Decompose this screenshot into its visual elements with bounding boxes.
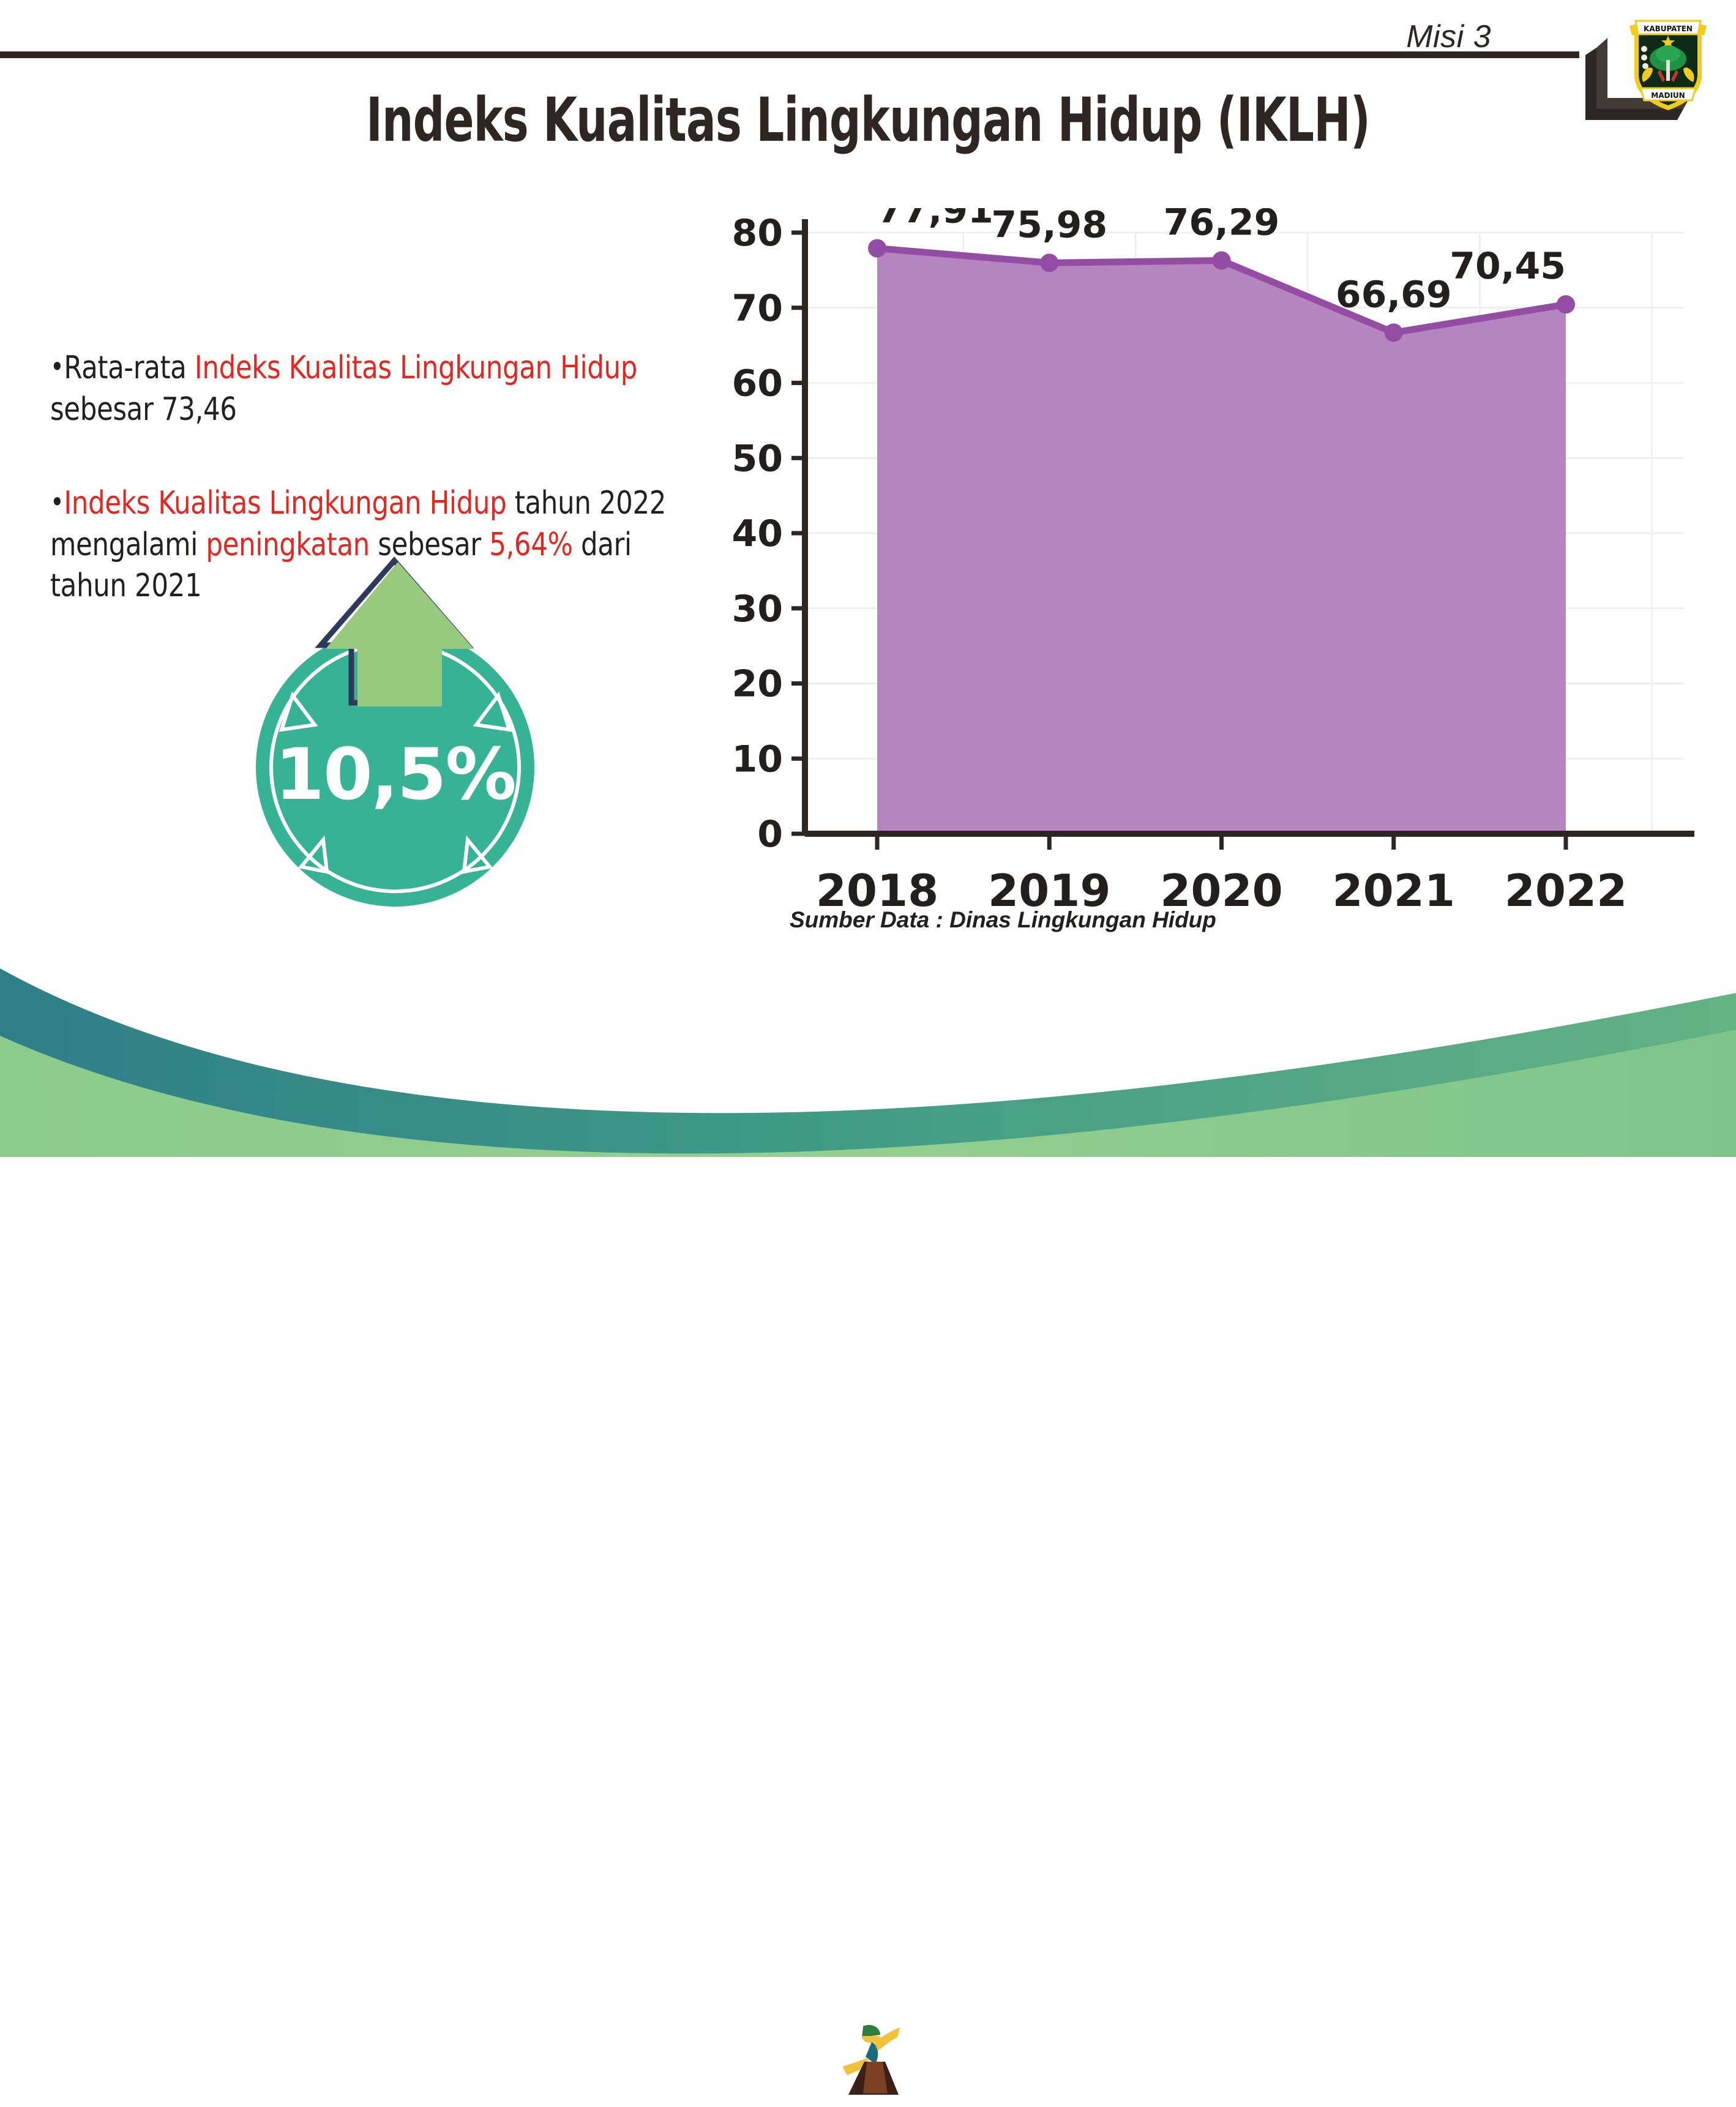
svg-text:MADIUN: MADIUN — [1651, 91, 1685, 100]
y-axis-tick-label: 0 — [757, 813, 783, 856]
data-point-label: 66,69 — [1336, 273, 1452, 316]
data-point-label: 70,45 — [1450, 245, 1566, 288]
y-axis-tick-label: 30 — [732, 588, 784, 631]
data-point-marker — [1557, 295, 1575, 313]
bullet-item-average: •Rata-rata Indeks Kualitas Lingkungan Hi… — [50, 348, 676, 430]
page-title: Indeks Kualitas Lingkungan Hidup (IKLH) — [122, 84, 1615, 155]
footer-wave-decoration — [0, 955, 1736, 1157]
x-axis-tick-label: 2022 — [1505, 865, 1627, 916]
footer-caption: Media Infografis Data Statistik Sektoral… — [906, 2040, 1734, 2076]
badge-value-label: 10,5% — [256, 733, 534, 816]
page-footer: Media Infografis Data Statistik Sektoral… — [0, 955, 1736, 1157]
data-point-marker — [1213, 252, 1231, 270]
arrow-up-icon — [234, 555, 577, 904]
bullet-text-0: Rata-rata Indeks Kualitas Lingkungan Hid… — [50, 350, 637, 428]
bullet-dot-icon: • — [50, 485, 64, 518]
data-point-label: 76,29 — [1164, 208, 1280, 244]
growth-badge: 10,5% — [234, 555, 577, 904]
chart-canvas: 77,9175,9876,2966,6970,45010203040506070… — [704, 208, 1696, 930]
y-axis-tick-label: 70 — [732, 287, 784, 330]
y-axis-tick-label: 20 — [732, 663, 784, 706]
mission-label: Misi 3 — [1406, 18, 1491, 55]
iklh-area-chart: 77,9175,9876,2966,6970,45010203040506070… — [704, 208, 1696, 930]
area-fill — [877, 249, 1566, 834]
y-axis-tick-label: 60 — [732, 362, 784, 405]
y-axis-tick-label: 80 — [732, 212, 784, 255]
data-point-label: 77,91 — [877, 208, 993, 232]
chart-source-note: Sumber Data : Dinas Lingkungan Hidup — [790, 907, 1216, 933]
data-point-marker — [868, 239, 886, 258]
madiun-coat-of-arms-icon: KABUPATEN MADIUN — [1622, 11, 1714, 115]
y-axis-tick-label: 10 — [732, 738, 784, 780]
data-point-label: 75,98 — [991, 208, 1107, 246]
header-divider-rule — [0, 51, 1579, 58]
data-point-marker — [1040, 253, 1058, 272]
x-axis-tick-label: 2021 — [1333, 865, 1455, 916]
y-axis-tick-label: 50 — [732, 437, 784, 480]
svg-text:KABUPATEN: KABUPATEN — [1644, 24, 1693, 33]
data-point-marker — [1385, 323, 1403, 342]
bullet-dot-icon: • — [50, 350, 64, 383]
y-axis-tick-label: 40 — [732, 512, 784, 555]
dancer-figure-icon — [840, 2021, 907, 2107]
